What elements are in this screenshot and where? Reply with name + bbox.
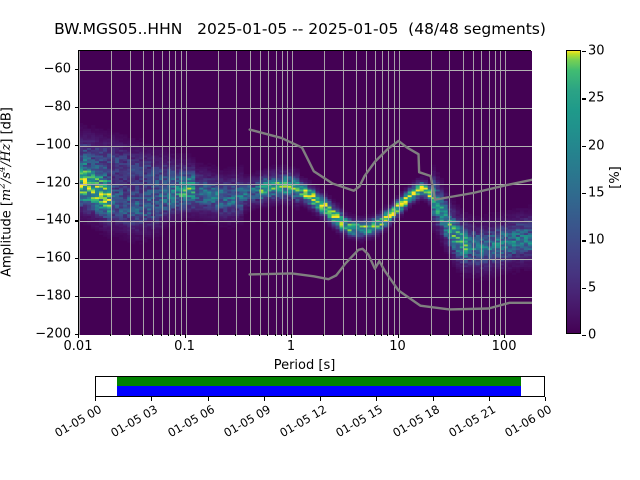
x-tick-minor xyxy=(174,334,175,336)
x-tick-minor xyxy=(462,334,463,336)
timeline-tick xyxy=(489,397,490,401)
timeline-tick xyxy=(95,397,96,401)
x-tick-minor xyxy=(355,334,356,336)
timeline-tick-label: 01-05 06 xyxy=(161,402,216,442)
x-tick-minor xyxy=(281,334,282,336)
data-coverage-timeline[interactable] xyxy=(95,376,545,397)
x-tick-minor xyxy=(488,334,489,336)
y-tick xyxy=(75,296,79,297)
colorbar[interactable]: 051015202530 xyxy=(566,50,581,334)
x-tick-minor xyxy=(168,334,169,336)
x-tick-minor xyxy=(381,334,382,336)
timeline-tick-label: 01-05 03 xyxy=(105,402,160,442)
noise-model-curves-canvas xyxy=(79,51,532,335)
ppsd-figure: BW.MGS05..HHN 2025-01-05 -- 2025-01-05 (… xyxy=(0,0,640,480)
x-tick-minor xyxy=(387,334,388,336)
x-tick-minor xyxy=(180,334,181,336)
x-tick-minor xyxy=(499,334,500,336)
colorbar-tick-label: 25 xyxy=(588,91,605,106)
colorbar-tick xyxy=(582,146,586,147)
x-tick-label: 0.01 xyxy=(64,339,93,354)
x-tick-minor xyxy=(249,334,250,336)
colorbar-tick-label: 5 xyxy=(588,280,596,295)
colorbar-tick-label: 30 xyxy=(588,44,605,59)
x-tick-label: 1 xyxy=(287,339,295,354)
timeline-tick-label: 01-05 09 xyxy=(217,402,272,442)
timeline-tick xyxy=(264,397,265,401)
timeline-tick xyxy=(320,397,321,401)
y-axis-label: Amplitude [m2/s4/Hz] [dB] xyxy=(0,50,18,334)
colorbar-tick xyxy=(582,240,586,241)
x-tick-label: 0.1 xyxy=(174,339,195,354)
x-tick-minor xyxy=(129,334,130,336)
timeline-tick-label: 01-05 15 xyxy=(330,402,385,442)
x-tick-major xyxy=(398,334,399,338)
timeline-tick xyxy=(151,397,152,401)
x-tick-minor xyxy=(430,334,431,336)
y-tick xyxy=(75,145,79,146)
x-tick-minor xyxy=(480,334,481,336)
colorbar-tick xyxy=(582,193,586,194)
timeline-tick xyxy=(545,397,546,401)
x-tick-minor xyxy=(448,334,449,336)
x-tick-minor xyxy=(472,334,473,336)
plot-title: BW.MGS05..HHN 2025-01-05 -- 2025-01-05 (… xyxy=(0,20,600,38)
x-tick-minor xyxy=(110,334,111,336)
x-tick-minor xyxy=(323,334,324,336)
x-tick-minor xyxy=(152,334,153,336)
timeline-tick xyxy=(376,397,377,401)
x-tick-minor xyxy=(374,334,375,336)
x-tick-minor xyxy=(161,334,162,336)
x-tick-minor xyxy=(494,334,495,336)
colorbar-tick-label: 10 xyxy=(588,233,605,248)
colorbar-tick-label: 15 xyxy=(588,186,605,201)
x-tick-major xyxy=(504,334,505,338)
x-tick-minor xyxy=(267,334,268,336)
colorbar-label: [%] xyxy=(608,166,623,189)
x-tick-label: 100 xyxy=(492,339,517,354)
x-tick-major xyxy=(291,334,292,338)
x-tick-minor xyxy=(275,334,276,336)
x-tick-minor xyxy=(393,334,394,336)
timeline-tick-label: 01-05 21 xyxy=(442,402,497,442)
timeline-tick xyxy=(433,397,434,401)
y-tick xyxy=(75,258,79,259)
colorbar-tick xyxy=(582,51,586,52)
x-tick-minor xyxy=(235,334,236,336)
x-tick-minor xyxy=(217,334,218,336)
x-axis-label: Period [s] xyxy=(78,358,531,373)
colorbar-tick xyxy=(582,335,586,336)
timeline-tick-label: 01-05 00 xyxy=(49,402,104,442)
x-tick-label: 10 xyxy=(389,339,406,354)
timeline-coverage-bar xyxy=(117,386,521,396)
y-tick xyxy=(75,220,79,221)
timeline-tick xyxy=(208,397,209,401)
y-tick xyxy=(75,69,79,70)
timeline-tick-label: 01-05 18 xyxy=(386,402,441,442)
colorbar-tick xyxy=(582,288,586,289)
colorbar-tick-label: 20 xyxy=(588,138,605,153)
x-tick-minor xyxy=(342,334,343,336)
x-tick-minor xyxy=(259,334,260,336)
ppsd-plot-area[interactable] xyxy=(78,50,531,334)
y-tick xyxy=(75,183,79,184)
colorbar-tick xyxy=(582,98,586,99)
x-tick-minor xyxy=(286,334,287,336)
y-tick xyxy=(75,107,79,108)
x-tick-major xyxy=(185,334,186,338)
timeline-tick-label: 01-06 00 xyxy=(499,402,554,442)
x-tick-minor xyxy=(142,334,143,336)
timeline-data-bar xyxy=(117,377,521,386)
timeline-tick-label: 01-05 12 xyxy=(274,402,329,442)
x-tick-major xyxy=(78,334,79,338)
x-tick-minor xyxy=(365,334,366,336)
colorbar-tick-label: 0 xyxy=(588,328,596,343)
